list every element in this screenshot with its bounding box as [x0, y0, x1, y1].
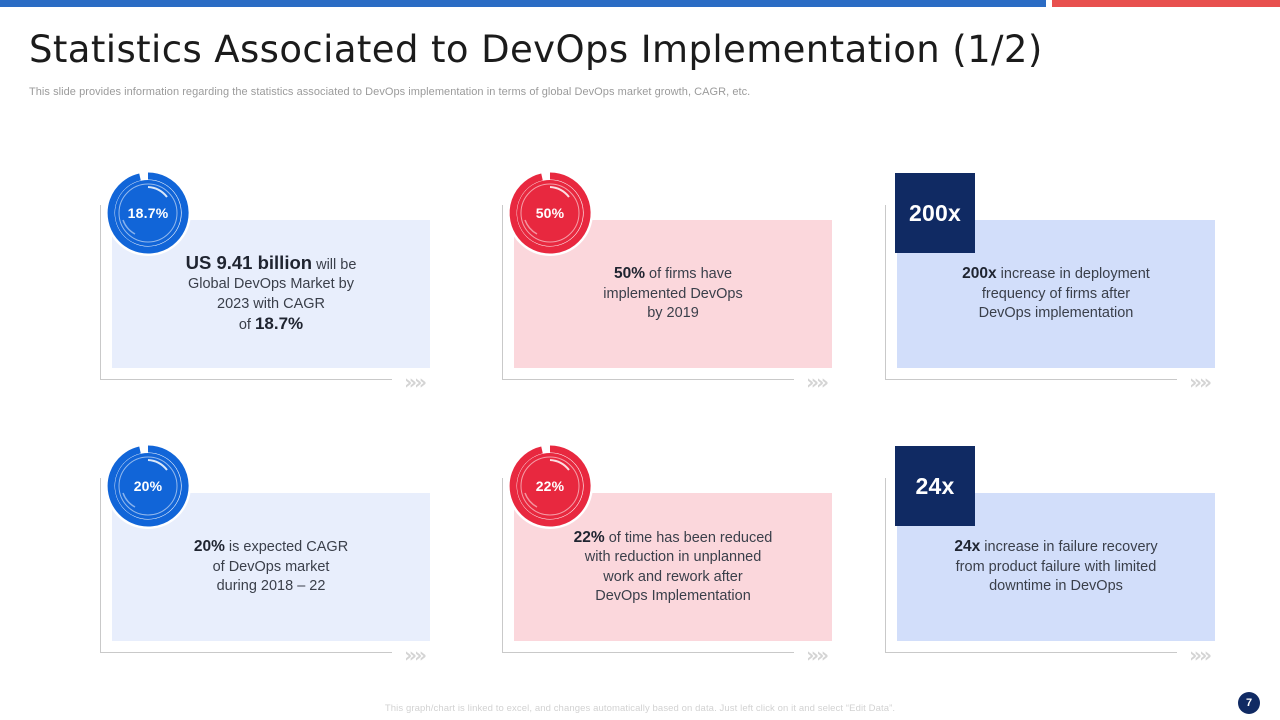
chevron-double-right-icon: »» — [404, 372, 424, 392]
statistic-card[interactable]: »» 50% of firms haveimplemented DevOpsby… — [502, 170, 832, 385]
stat-badge-value: 18.7% — [128, 205, 169, 221]
stat-text-line: during 2018 – 22 — [194, 577, 348, 597]
statistic-card[interactable]: »» 200x increase in deploymentfrequency … — [885, 170, 1215, 385]
statistic-card[interactable]: »» 22% of time has been reducedwith redu… — [502, 443, 832, 658]
stat-text-line: of DevOps market — [194, 558, 348, 578]
stat-badge-ring: 22% — [507, 443, 593, 529]
stat-text-line: 50% of firms have — [603, 264, 742, 285]
stat-text-line: DevOps Implementation — [574, 587, 773, 607]
stat-text-line: 2023 with CAGR — [186, 295, 357, 315]
card-frame-left-rule — [885, 478, 886, 653]
page-number-badge: 7 — [1238, 692, 1260, 714]
statistic-card[interactable]: »» 20% is expected CAGRof DevOps marketd… — [100, 443, 430, 658]
chevron-double-right-icon: »» — [404, 645, 424, 665]
stat-text-line: downtime in DevOps — [954, 577, 1157, 597]
card-frame-left-rule — [502, 205, 503, 380]
statistic-card[interactable]: »» US 9.41 billion will beGlobal DevOps … — [100, 170, 430, 385]
stat-description: US 9.41 billion will beGlobal DevOps Mar… — [160, 253, 383, 336]
card-frame-bottom-rule — [100, 652, 392, 653]
stat-badge-ring: 50% — [507, 170, 593, 256]
chevron-double-right-icon: »» — [806, 645, 826, 665]
stat-text-line: with reduction in unplanned — [574, 548, 773, 568]
stat-text-line: from product failure with limited — [954, 558, 1157, 578]
card-frame-bottom-rule — [502, 379, 794, 380]
stat-badge-value: 20% — [134, 478, 163, 494]
stat-description: 22% of time has been reducedwith reducti… — [548, 528, 799, 607]
card-frame-left-rule — [100, 205, 101, 380]
stat-text-line: 24x increase in failure recovery — [954, 537, 1157, 558]
page-subtitle: This slide provides information regardin… — [29, 86, 750, 98]
stat-badge-value: 22% — [536, 478, 565, 494]
stat-text-line: DevOps implementation — [962, 304, 1150, 324]
card-frame-left-rule — [885, 205, 886, 380]
chevron-double-right-icon: »» — [806, 372, 826, 392]
stat-description: 20% is expected CAGRof DevOps marketduri… — [168, 537, 374, 597]
stat-text-line: 20% is expected CAGR — [194, 537, 348, 558]
card-frame-left-rule — [100, 478, 101, 653]
card-frame-bottom-rule — [502, 652, 794, 653]
stat-description: 200x increase in deploymentfrequency of … — [936, 264, 1176, 324]
stat-badge-square: 200x — [895, 173, 975, 253]
stat-text-line: by 2019 — [603, 304, 742, 324]
top-accent-bar-red — [1052, 0, 1280, 7]
stat-badge-value: 50% — [536, 205, 565, 221]
stat-text-line: of 18.7% — [186, 314, 357, 336]
stat-badge-ring: 20% — [105, 443, 191, 529]
card-frame-bottom-rule — [885, 652, 1177, 653]
stat-description: 24x increase in failure recoveryfrom pro… — [928, 537, 1183, 597]
stat-text-line: 22% of time has been reduced — [574, 528, 773, 549]
card-frame-bottom-rule — [885, 379, 1177, 380]
stat-badge-square: 24x — [895, 446, 975, 526]
chevron-double-right-icon: »» — [1189, 645, 1209, 665]
stat-badge-value: 24x — [916, 473, 955, 500]
card-frame-bottom-rule — [100, 379, 392, 380]
page-title: Statistics Associated to DevOps Implemen… — [29, 28, 1043, 71]
footer-note: This graph/chart is linked to excel, and… — [0, 703, 1280, 714]
top-accent-bar-blue — [0, 0, 1046, 7]
stat-text-line: US 9.41 billion will be — [186, 253, 357, 276]
chevron-double-right-icon: »» — [1189, 372, 1209, 392]
stat-text-line: frequency of firms after — [962, 285, 1150, 305]
stat-text-line: 200x increase in deployment — [962, 264, 1150, 285]
stat-description: 50% of firms haveimplemented DevOpsby 20… — [577, 264, 768, 324]
stat-text-line: Global DevOps Market by — [186, 275, 357, 295]
stat-badge-ring: 18.7% — [105, 170, 191, 256]
slide-root: Statistics Associated to DevOps Implemen… — [0, 0, 1280, 720]
stat-text-line: work and rework after — [574, 568, 773, 588]
stat-badge-value: 200x — [909, 200, 961, 227]
card-frame-left-rule — [502, 478, 503, 653]
statistic-card[interactable]: »» 24x increase in failure recoveryfrom … — [885, 443, 1215, 658]
stat-text-line: implemented DevOps — [603, 285, 742, 305]
